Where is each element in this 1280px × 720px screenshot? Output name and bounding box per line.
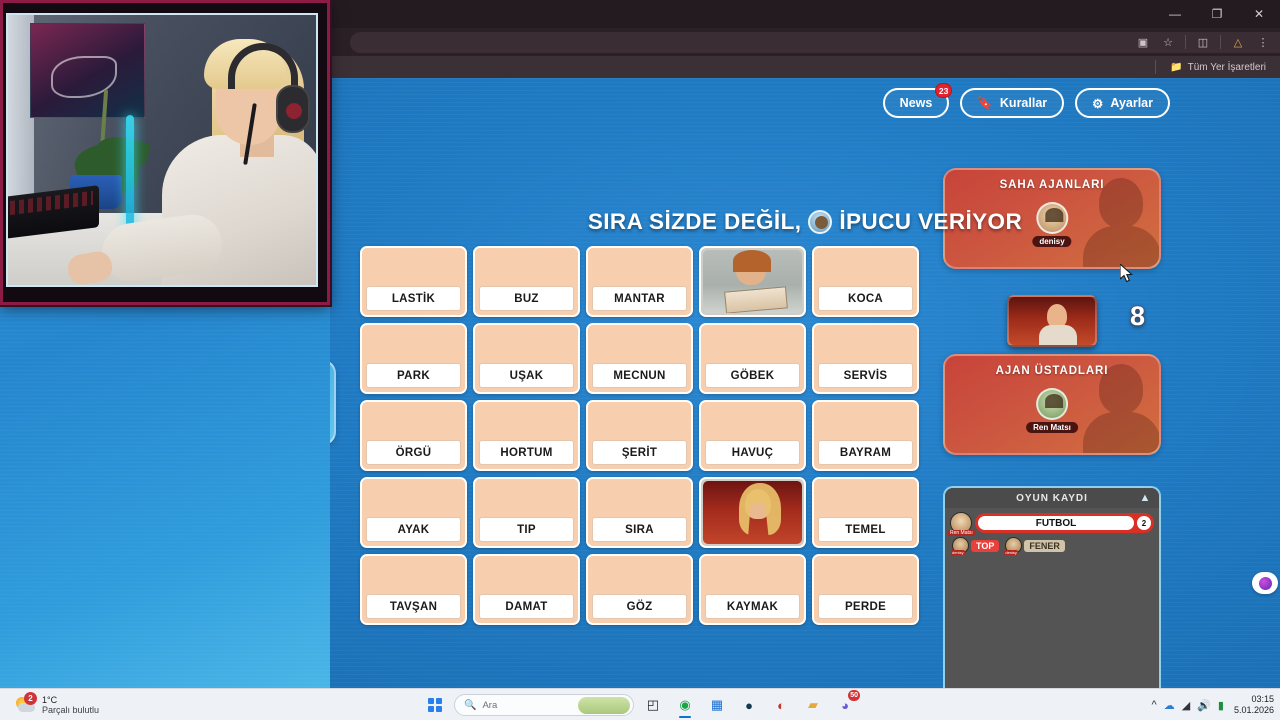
- game-log-header: OYUN KAYDI ▲: [945, 488, 1159, 508]
- rules-button[interactable]: 🔖 Kurallar: [960, 88, 1064, 118]
- start-button[interactable]: [422, 692, 448, 718]
- folder-icon: 📁: [1170, 62, 1182, 73]
- card-label: MANTAR: [592, 286, 687, 311]
- word-card-revealed-neutral[interactable]: [699, 246, 806, 317]
- card-picture: [588, 479, 691, 517]
- card-agent-portrait: [703, 481, 802, 544]
- card-picture: [362, 556, 465, 594]
- card-picture: [588, 248, 691, 286]
- word-card[interactable]: TEMEL: [812, 477, 919, 548]
- word-card[interactable]: GÖBEK: [699, 323, 806, 394]
- bookmark-icon: 🔖: [977, 96, 993, 111]
- card-picture: [814, 556, 917, 594]
- card-picture: [475, 402, 578, 440]
- bookmarks-bar: 📁 Tüm Yer İşaretleri: [330, 56, 1280, 78]
- team-master-member[interactable]: Ren Matsı: [1026, 388, 1078, 433]
- floating-widget-button[interactable]: [1252, 572, 1278, 594]
- avatar: denisy: [1005, 537, 1022, 554]
- card-picture: [475, 556, 578, 594]
- word-card[interactable]: BAYRAM: [812, 400, 919, 471]
- card-label: LASTİK: [366, 286, 461, 311]
- start-quadrant: [436, 698, 442, 704]
- word-card[interactable]: HORTUM: [473, 400, 580, 471]
- card-picture: [588, 402, 691, 440]
- maximize-icon[interactable]: ❐: [1196, 0, 1238, 28]
- bookmarks-divider: [1155, 60, 1156, 74]
- clue-thumbnail-red[interactable]: [1007, 295, 1097, 347]
- browser-titlebar: — ❐ ✕: [330, 0, 1280, 28]
- card-label: UŞAK: [479, 363, 574, 388]
- team-master-member-name: Ren Matsı: [1026, 422, 1078, 433]
- windows-taskbar: 2 1°C Parçalı bulutlu 🔍 Ara ◰ ◉ ▦ ● ◐ ▰ …: [0, 688, 1280, 720]
- guess-word: FENER: [1024, 540, 1065, 552]
- log-author-name: Ren Matsı: [948, 530, 975, 536]
- window-controls: — ❐ ✕: [1154, 0, 1280, 28]
- discord-badge: 50: [848, 690, 860, 701]
- avatar: denisy: [952, 537, 969, 554]
- card-picture: [814, 248, 917, 286]
- taskbar-search[interactable]: 🔍 Ara: [454, 694, 634, 716]
- card-label: PARK: [366, 363, 461, 388]
- toolbar-divider: [1185, 35, 1186, 49]
- word-grid: LASTİK BUZ MANTAR KOCA PARK UŞAK MECNUN …: [360, 246, 919, 625]
- taskbar-app-file-explorer[interactable]: ▰: [800, 692, 826, 718]
- settings-button[interactable]: ⚙ Ayarlar: [1075, 88, 1170, 118]
- team-master-title: AJAN ÜSTADLARI: [945, 365, 1159, 377]
- news-button[interactable]: News 23: [883, 88, 950, 118]
- toolbar-icon-group: ▣ ☆ ◫ △ ⋮: [1132, 28, 1274, 56]
- team-blue-title: AJAN ÜSTADLARI: [330, 371, 334, 383]
- card-picture: [588, 325, 691, 363]
- search-placeholder: Ara: [482, 700, 497, 711]
- card-label: AYAK: [366, 517, 461, 542]
- score-red: 8: [1130, 301, 1145, 332]
- card-label: BUZ: [479, 286, 574, 311]
- game-viewport: News 23 🔖 Kurallar ⚙ Ayarlar SIRA SİZDE …: [330, 78, 1280, 688]
- guess-item: denisy TOP: [952, 537, 999, 554]
- card-art-detail: [724, 286, 788, 313]
- battery-icon[interactable]: ▮: [1218, 699, 1224, 712]
- onedrive-icon[interactable]: ☁: [1164, 699, 1175, 712]
- taskbar-clock[interactable]: 03:15 5.01.2026: [1234, 694, 1274, 716]
- taskbar-app-discord[interactable]: ◕ 50: [832, 692, 858, 718]
- guess-author-name: denisy: [951, 550, 965, 555]
- card-picture: [475, 325, 578, 363]
- browser-toolbar: ▣ ☆ ◫ △ ⋮: [330, 28, 1280, 56]
- webcam-video: [6, 13, 318, 287]
- word-card[interactable]: ÖRGÜ: [360, 400, 467, 471]
- game-log-body: Ren Matsı FUTBOL 2 denisy TOP denisy: [945, 508, 1159, 558]
- weather-widget[interactable]: 2 1°C Parçalı bulutlu: [14, 691, 99, 719]
- widget-icon: [1259, 577, 1272, 590]
- discord-glyph: ◕: [841, 698, 849, 713]
- log-entry-clue: Ren Matsı FUTBOL 2: [950, 512, 1154, 534]
- weather-text: 1°C Parçalı bulutlu: [42, 695, 99, 716]
- card-picture: [701, 325, 804, 363]
- word-card[interactable]: UŞAK: [473, 323, 580, 394]
- settings-label: Ayarlar: [1110, 96, 1153, 110]
- card-picture: [814, 402, 917, 440]
- clock-time: 03:15: [1234, 694, 1274, 705]
- word-card[interactable]: SIRA: [586, 477, 693, 548]
- word-card[interactable]: KAYMAK: [699, 554, 806, 625]
- weather-icon: 2: [14, 694, 36, 716]
- clue-word: FUTBOL: [978, 516, 1134, 530]
- webcam-streamer: [150, 25, 318, 285]
- card-picture: [362, 402, 465, 440]
- word-card[interactable]: GÖZ: [586, 554, 693, 625]
- clock-date: 5.01.2026: [1234, 705, 1274, 716]
- word-card[interactable]: AYAK: [360, 477, 467, 548]
- headline-prefix: SIRA SİZDE DEĞİL,: [588, 209, 802, 235]
- card-label: KOCA: [818, 286, 913, 311]
- start-quadrant: [436, 706, 442, 712]
- headline-suffix: İPUCU VERİYOR: [839, 209, 1022, 235]
- browser-window-chrome: — ❐ ✕ ▣ ☆ ◫ △ ⋮ 📁 Tüm Yer İşaretleri: [330, 0, 1280, 78]
- clue-number: 2: [1137, 516, 1151, 530]
- log-entry-guesses: denisy TOP denisy FENER: [950, 537, 1154, 554]
- card-picture: [362, 325, 465, 363]
- gear-icon: ⚙: [1092, 96, 1103, 111]
- close-icon[interactable]: ✕: [1238, 0, 1280, 28]
- word-card[interactable]: SERVİS: [812, 323, 919, 394]
- profile-icon[interactable]: △: [1227, 31, 1249, 53]
- webcam-overlay: [0, 0, 330, 305]
- volume-icon[interactable]: 🔊: [1197, 699, 1211, 712]
- clue-bar: FUTBOL 2: [975, 513, 1154, 533]
- card-label: HAVUÇ: [705, 440, 800, 465]
- guess-word: TOP: [971, 540, 999, 552]
- avatar: [1036, 388, 1068, 420]
- taskbar-app-microsoft-store[interactable]: ▦: [704, 692, 730, 718]
- guess-item: denisy FENER: [1005, 537, 1065, 554]
- word-card[interactable]: PARK: [360, 323, 467, 394]
- card-picture: [362, 248, 465, 286]
- wifi-icon[interactable]: ◢: [1182, 699, 1190, 712]
- word-card[interactable]: HAVUÇ: [699, 400, 806, 471]
- more-menu-icon[interactable]: ⋮: [1252, 31, 1274, 53]
- card-label: GÖBEK: [705, 363, 800, 388]
- team-panel-agent-masters[interactable]: AJAN ÜSTADLARI Ren Matsı: [943, 354, 1161, 455]
- card-label: TEMEL: [818, 517, 913, 542]
- weather-description: Parçalı bulutlu: [42, 705, 99, 715]
- card-label: GÖZ: [592, 594, 687, 619]
- word-card[interactable]: MANTAR: [586, 246, 693, 317]
- game-top-nav: News 23 🔖 Kurallar ⚙ Ayarlar: [883, 88, 1170, 118]
- search-icon: 🔍: [464, 700, 476, 711]
- ghost-body: [1083, 412, 1161, 455]
- team-field-title: SAHA AJANLARI: [945, 179, 1159, 191]
- headset-earcup: [276, 85, 310, 133]
- bookmark-star-icon[interactable]: ☆: [1157, 31, 1179, 53]
- extensions-icon[interactable]: ◫: [1192, 31, 1214, 53]
- word-card[interactable]: BUZ: [473, 246, 580, 317]
- taskbar-app-chrome[interactable]: ◉: [672, 692, 698, 718]
- start-quadrant: [428, 706, 434, 712]
- card-label: HORTUM: [479, 440, 574, 465]
- all-bookmarks-button[interactable]: 📁 Tüm Yer İşaretleri: [1164, 56, 1272, 78]
- taskbar-app-task-view[interactable]: ◰: [640, 692, 666, 718]
- rules-label: Kurallar: [1000, 96, 1047, 110]
- game-log-panel: OYUN KAYDI ▲ Ren Matsı FUTBOL 2 denisy T…: [943, 486, 1161, 688]
- taskbar-app-steam[interactable]: ●: [736, 692, 762, 718]
- card-label: MECNUN: [592, 363, 687, 388]
- word-card[interactable]: KOCA: [812, 246, 919, 317]
- game-log-title: OYUN KAYDI: [1016, 493, 1088, 504]
- headline-avatar: [808, 210, 832, 234]
- card-label: PERDE: [818, 594, 913, 619]
- word-card[interactable]: MECNUN: [586, 323, 693, 394]
- card-label: BAYRAM: [818, 440, 913, 465]
- card-picture: [814, 479, 917, 517]
- taskbar-tray: ^ ☁ ◢ 🔊 ▮ 03:15 5.01.2026: [1152, 689, 1274, 720]
- all-bookmarks-label: Tüm Yer İşaretleri: [1188, 62, 1266, 73]
- word-card[interactable]: TIP: [473, 477, 580, 548]
- card-label: ŞERİT: [592, 440, 687, 465]
- news-badge: 23: [935, 83, 952, 98]
- search-highlight-thumbnail: [578, 697, 630, 714]
- news-label: News: [900, 96, 933, 110]
- guess-author-name: denisy: [1004, 550, 1018, 555]
- card-picture: [362, 479, 465, 517]
- card-label: KAYMAK: [705, 594, 800, 619]
- word-card[interactable]: ŞERİT: [586, 400, 693, 471]
- card-label: TIP: [479, 517, 574, 542]
- card-picture: [475, 479, 578, 517]
- card-agent-portrait: [703, 250, 802, 313]
- card-picture: [701, 402, 804, 440]
- word-card-revealed-red[interactable]: [699, 477, 806, 548]
- card-picture: [475, 248, 578, 286]
- avatar: Ren Matsı: [950, 512, 972, 534]
- toolbar-divider: [1220, 35, 1221, 49]
- word-card[interactable]: LASTİK: [360, 246, 467, 317]
- card-label: SIRA: [592, 517, 687, 542]
- taskbar-app-media-player[interactable]: ◐: [768, 692, 794, 718]
- card-picture: [588, 556, 691, 594]
- word-card[interactable]: PERDE: [812, 554, 919, 625]
- card-label: ÖRGÜ: [366, 440, 461, 465]
- card-label: TAVŞAN: [366, 594, 461, 619]
- start-quadrant: [428, 698, 434, 704]
- minimize-icon[interactable]: —: [1154, 0, 1196, 28]
- show-hidden-icons-icon[interactable]: ^: [1152, 699, 1157, 711]
- card-label: DAMAT: [479, 594, 574, 619]
- weather-temperature: 1°C: [42, 695, 99, 705]
- chevron-up-icon[interactable]: ▲: [1137, 490, 1153, 506]
- team-panel-blue[interactable]: AJAN ÜSTADLARI nibey: [330, 360, 336, 445]
- weather-badge: 2: [24, 692, 37, 705]
- card-picture: [701, 556, 804, 594]
- card-label: SERVİS: [818, 363, 913, 388]
- word-card[interactable]: DAMAT: [473, 554, 580, 625]
- translate-icon[interactable]: ▣: [1132, 31, 1154, 53]
- taskbar-center-group: 🔍 Ara ◰ ◉ ▦ ● ◐ ▰ ◕ 50: [422, 689, 858, 720]
- card-picture: [814, 325, 917, 363]
- team-field-member-name: denisy: [1032, 236, 1071, 247]
- word-card[interactable]: TAVŞAN: [360, 554, 467, 625]
- page-title: SIRA SİZDE DEĞİL, İPUCU VERİYOR: [330, 209, 1280, 235]
